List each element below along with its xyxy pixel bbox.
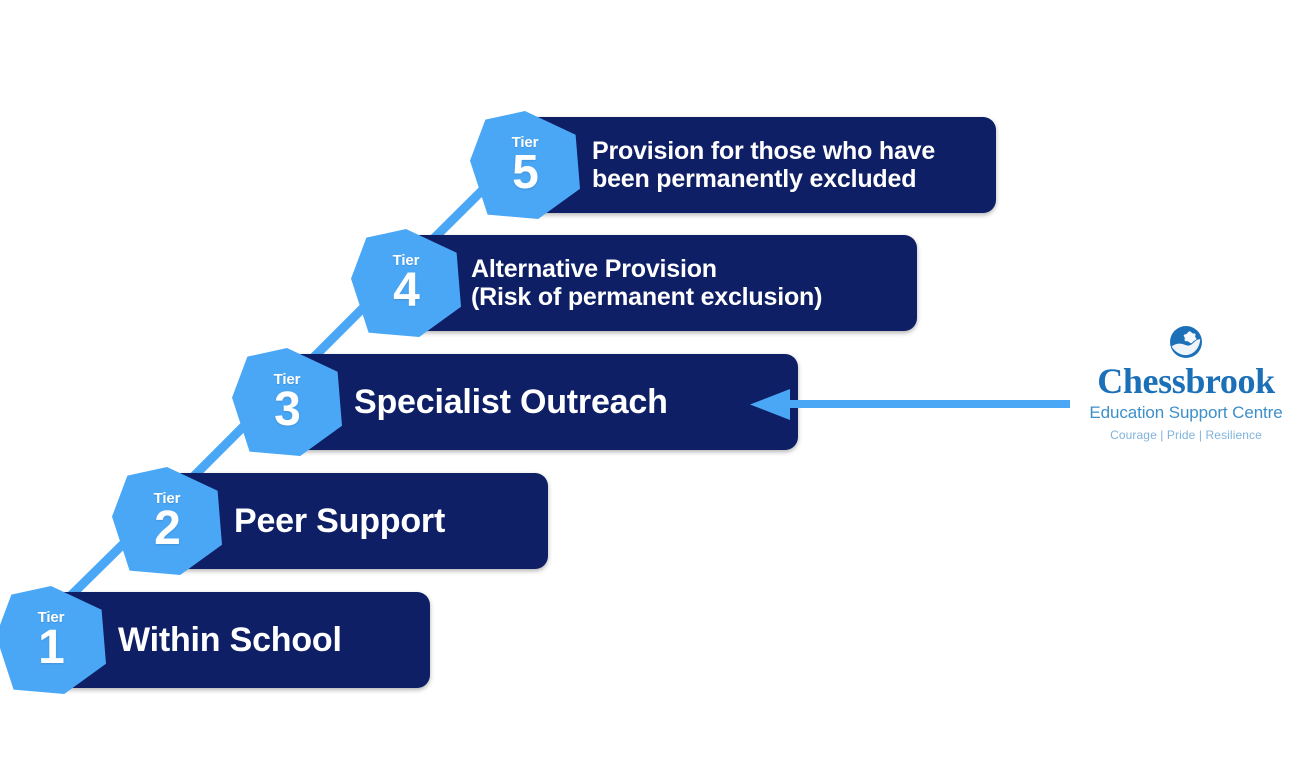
tier-number-1: 1 (38, 626, 64, 670)
tier-bar-5[interactable]: Provision for those who have been perman… (526, 117, 996, 213)
logo-tagline: Courage | Pride | Resilience (1077, 428, 1295, 442)
tier-label-4: Alternative Provision (Risk of permanent… (471, 255, 822, 311)
tier-label-1: Within School (118, 621, 342, 659)
tier-bar-1[interactable]: Within School (52, 592, 430, 688)
tier-number-5: 5 (512, 151, 538, 195)
tier-number-2: 2 (154, 507, 180, 551)
logo-wordmark: Chessbrook (1077, 363, 1295, 399)
tier-bar-3[interactable]: Specialist Outreach (288, 354, 798, 450)
tier-label-5: Provision for those who have been perman… (592, 137, 935, 193)
tier-bar-2[interactable]: Peer Support (168, 473, 548, 569)
arrow-left-icon (750, 388, 1070, 422)
tier-label-3: Specialist Outreach (354, 383, 668, 421)
diagram-canvas: Provision for those who have been perman… (0, 0, 1300, 768)
tier-label-2: Peer Support (234, 502, 445, 540)
logo-subtitle: Education Support Centre (1077, 403, 1295, 423)
tier-number-3: 3 (274, 388, 300, 432)
tier-number-4: 4 (393, 269, 419, 313)
tier-bar-4[interactable]: Alternative Provision (Risk of permanent… (407, 235, 917, 331)
chessbrook-logo[interactable]: Chessbrook Education Support Centre Cour… (1077, 325, 1295, 442)
globe-icon (1169, 325, 1203, 359)
